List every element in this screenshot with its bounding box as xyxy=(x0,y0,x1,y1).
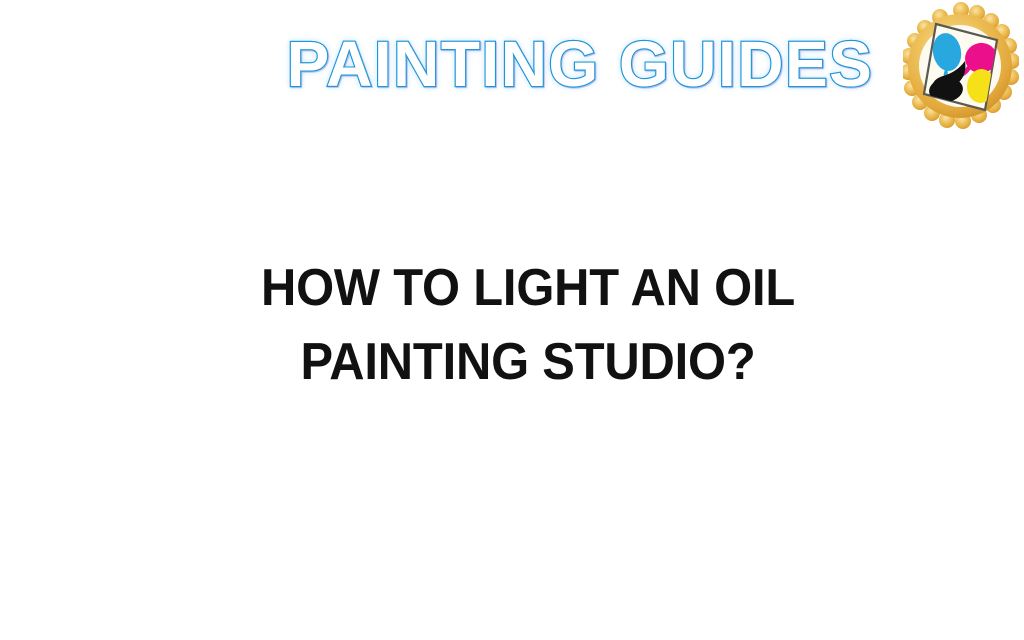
page-title: HOW TO LIGHT AN OIL PAINTING STUDIO? xyxy=(112,251,944,399)
site-title: PAINTING GUIDES xyxy=(270,24,890,104)
paint-palette-badge-icon xyxy=(903,2,1019,132)
brand-header: PAINTING GUIDES xyxy=(0,0,1024,135)
headline-line-1: HOW TO LIGHT AN OIL xyxy=(137,251,919,325)
page-root: PAINTING GUIDES xyxy=(0,0,1024,640)
paint-palette-badge-logo[interactable] xyxy=(903,2,1019,132)
article-body-empty-area xyxy=(0,380,1024,640)
